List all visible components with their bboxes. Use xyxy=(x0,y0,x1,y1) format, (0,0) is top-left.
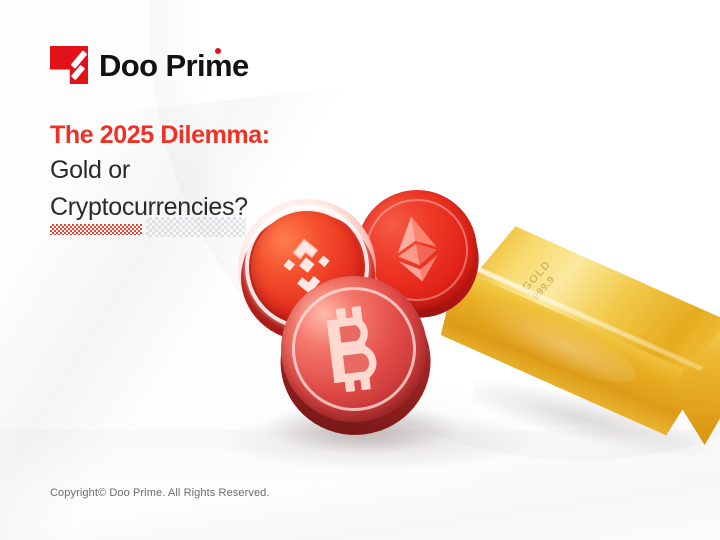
logo-accent-dot-icon xyxy=(215,48,221,54)
brand-logo: Doo Prime xyxy=(50,46,249,84)
promotional-banner: Doo Prime The 2025 Dilemma: Gold or Cryp… xyxy=(0,0,720,540)
brand-name-text: Doo Prime xyxy=(99,48,249,83)
headline-line-1: The 2025 Dilemma: xyxy=(50,120,380,150)
decorative-divider xyxy=(50,221,250,237)
copyright-text: Copyright© Doo Prime. All Rights Reserve… xyxy=(50,487,270,499)
bitcoin-symbol-icon xyxy=(273,268,436,431)
brand-name: Doo Prime xyxy=(99,50,249,81)
dot-grid-decoration xyxy=(146,217,246,237)
headline-line-2: Gold or xyxy=(50,154,380,187)
doo-prime-logo-icon xyxy=(50,46,88,84)
checker-bar-decoration xyxy=(50,224,142,235)
bitcoin-coin xyxy=(273,268,436,431)
